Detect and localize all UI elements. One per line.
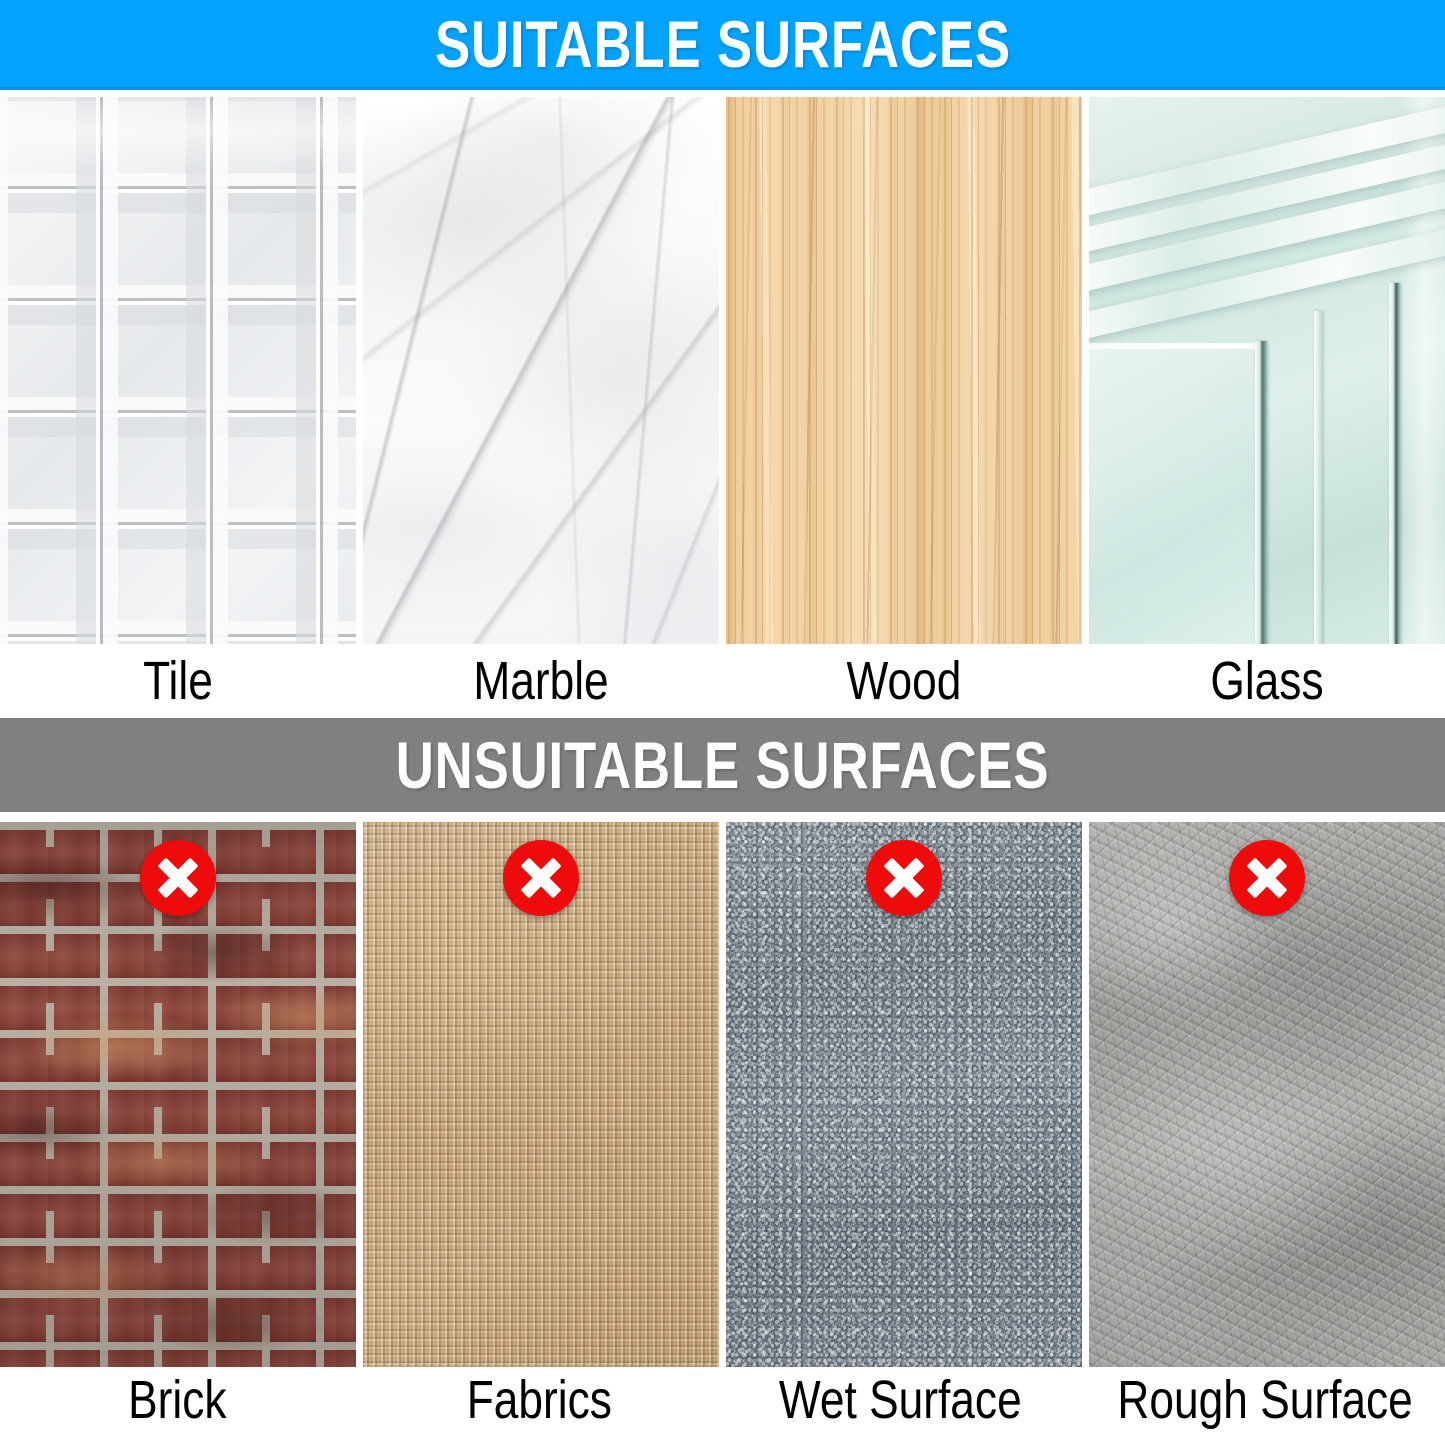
x-mark-icon [140,840,216,916]
suitable-surfaces-infographic: SUITABLE SURFACES Ti [0,0,1445,1433]
unsuitable-banner-title: UNSUITABLE SURFACES [396,727,1050,803]
x-mark-icon [866,840,942,916]
tile-texture [0,97,356,644]
glass-edge-3 [1314,311,1322,644]
suitable-surfaces-label-row: Tile Marble Wood Glass [0,648,1445,714]
glass-pane-front [1089,343,1257,644]
unsuitable-surfaces-image-row [0,822,1445,1367]
unsuitable-surfaces-banner: UNSUITABLE SURFACES [0,718,1445,812]
suitable-surface-tile [0,97,356,644]
glass-reflection-band [1400,97,1445,644]
unsuitable-surface-fabrics [363,822,719,1367]
suitable-surface-marble [363,97,719,644]
suitable-surfaces-banner: SUITABLE SURFACES [0,0,1445,90]
wood-texture [726,97,1082,644]
glass-texture [1089,97,1445,644]
suitable-surface-wood [726,97,1082,644]
label-brick: Brick [32,1370,323,1430]
x-mark-icon [503,840,579,916]
glass-edge-1 [1255,341,1267,644]
label-marble: Marble [395,648,687,714]
label-wet-surface: Wet Surface [755,1370,1046,1430]
unsuitable-surfaces-label-row: Brick Fabrics Wet Surface Rough Surface [0,1370,1445,1430]
unsuitable-surface-wet [726,822,1082,1367]
suitable-surface-glass [1089,97,1445,644]
label-fabrics: Fabrics [394,1370,685,1430]
suitable-banner-title: SUITABLE SURFACES [435,6,1011,82]
unsuitable-surface-rough [1089,822,1445,1367]
label-wood: Wood [758,648,1050,714]
x-mark-icon [1229,840,1305,916]
label-rough-surface: Rough Surface [1117,1370,1412,1430]
marble-texture [363,97,719,644]
label-tile: Tile [32,648,324,714]
glass-edge-2 [1389,283,1400,644]
unsuitable-surface-brick [0,822,356,1367]
suitable-surfaces-image-row [0,97,1445,644]
label-glass: Glass [1121,648,1413,714]
